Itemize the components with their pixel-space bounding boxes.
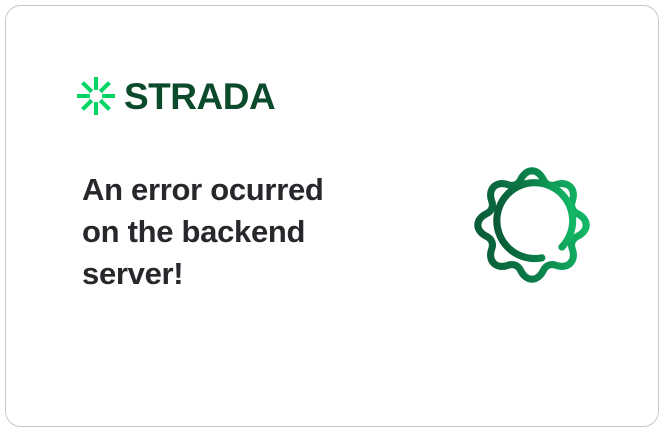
gear-error-icon xyxy=(453,146,611,304)
error-message: An error ocurred on the backend server! xyxy=(82,169,362,295)
error-card: STRADA An error ocurred on the backend s… xyxy=(5,5,659,427)
brand-wordmark: STRADA xyxy=(124,78,275,115)
brand-logo: STRADA xyxy=(77,74,275,118)
strada-asterisk-icon xyxy=(77,77,115,115)
